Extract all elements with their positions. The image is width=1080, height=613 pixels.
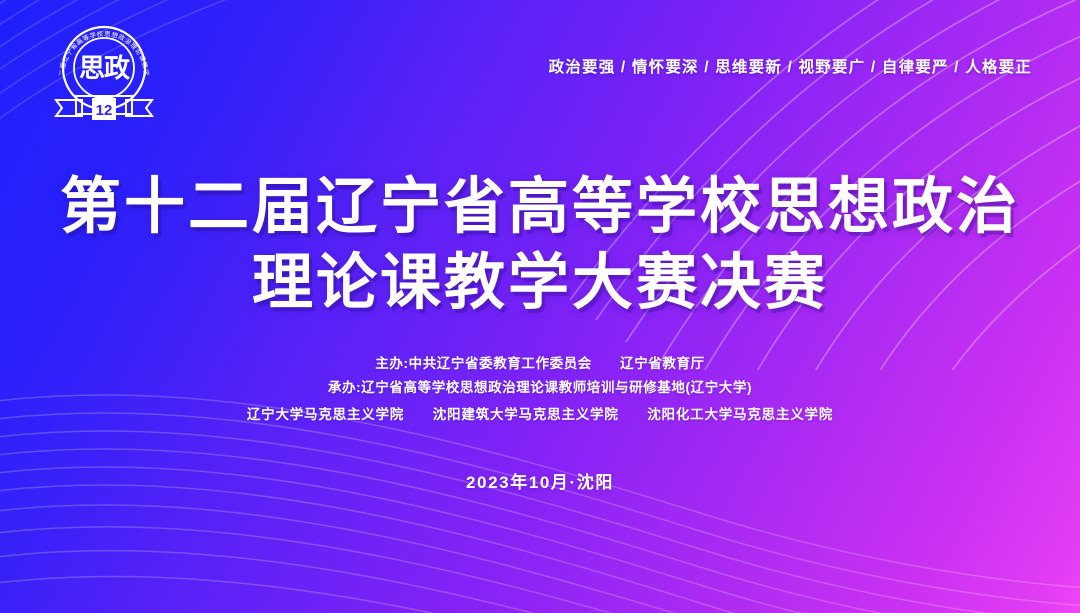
date-location-text: 2023年10月·沈阳 <box>0 468 1080 493</box>
poster-canvas: 第十二届辽宁省高等学校思想政治理论课教学大赛 思政 12 政治要强 / 情怀要深… <box>0 0 1080 613</box>
title-line-1: 第十二届辽宁省高等学校思想政治 <box>0 168 1080 244</box>
logo-edition-number: 12 <box>96 102 113 119</box>
logo-center-text: 思政 <box>79 53 130 83</box>
organizer-line: 主办:中共辽宁省委教育工作委员会 辽宁省教育厅 <box>0 352 1080 376</box>
competition-logo: 第十二届辽宁省高等学校思想政治理论课教学大赛 思政 12 <box>42 20 166 130</box>
slogan-text: 政治要强 / 情怀要深 / 思维要新 / 视野要广 / 自律要严 / 人格要正 <box>549 55 1032 77</box>
schools-line: 辽宁大学马克思主义学院 沈阳建筑大学马克思主义学院 沈阳化工大学马克思主义学院 <box>0 403 1080 427</box>
title-block: 第十二届辽宁省高等学校思想政治 理论课教学大赛决赛 <box>0 168 1080 320</box>
title-line-2: 理论课教学大赛决赛 <box>0 244 1080 320</box>
organizer-block: 主办:中共辽宁省委教育工作委员会 辽宁省教育厅 承办:辽宁省高等学校思想政治理论… <box>0 352 1080 427</box>
undertaker-line: 承办:辽宁省高等学校思想政治理论课教师培训与研修基地(辽宁大学) <box>0 376 1080 400</box>
